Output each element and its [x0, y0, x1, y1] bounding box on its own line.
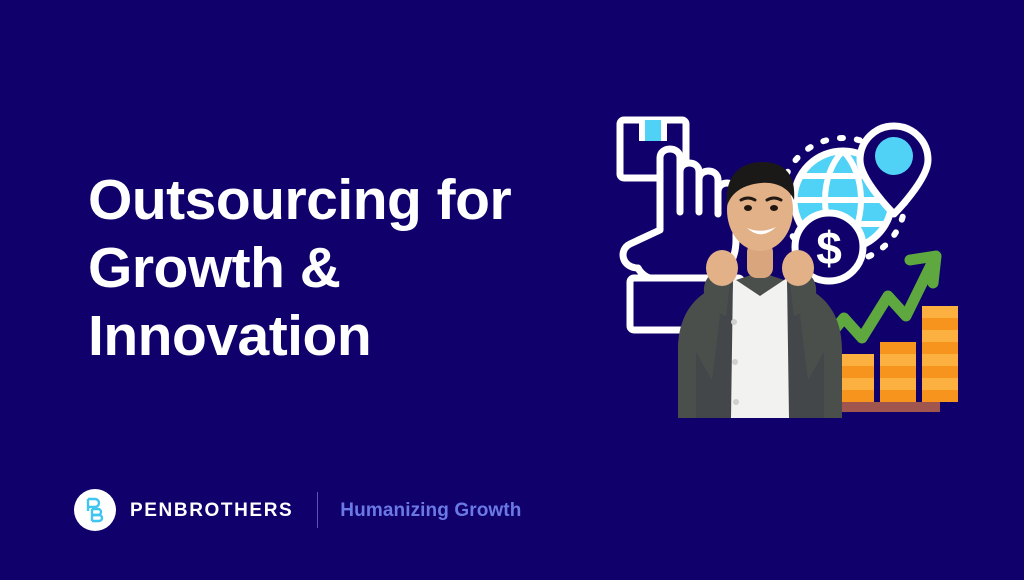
coin-stack-4	[922, 306, 958, 402]
hero-illustration: $	[600, 100, 1020, 430]
brand-tagline: Humanizing Growth	[340, 501, 521, 520]
headline-line-3: Innovation	[88, 302, 588, 370]
headline-line-1: Outsourcing for	[88, 166, 588, 234]
brand-lockup: PENBROTHERS Humanizing Growth	[74, 484, 521, 536]
penbrothers-pb-monogram-icon	[74, 489, 116, 531]
brand-name: PENBROTHERS	[130, 501, 293, 520]
page-title: Outsourcing for Growth & Innovation	[88, 166, 588, 370]
headline-line-2: Growth &	[88, 234, 588, 302]
marketing-banner: Outsourcing for Growth & Innovation	[0, 0, 1024, 580]
lockup-divider	[317, 492, 318, 528]
coin-stack-3	[880, 342, 916, 402]
svg-text:$: $	[816, 222, 842, 274]
coin-stack-2	[838, 354, 874, 402]
